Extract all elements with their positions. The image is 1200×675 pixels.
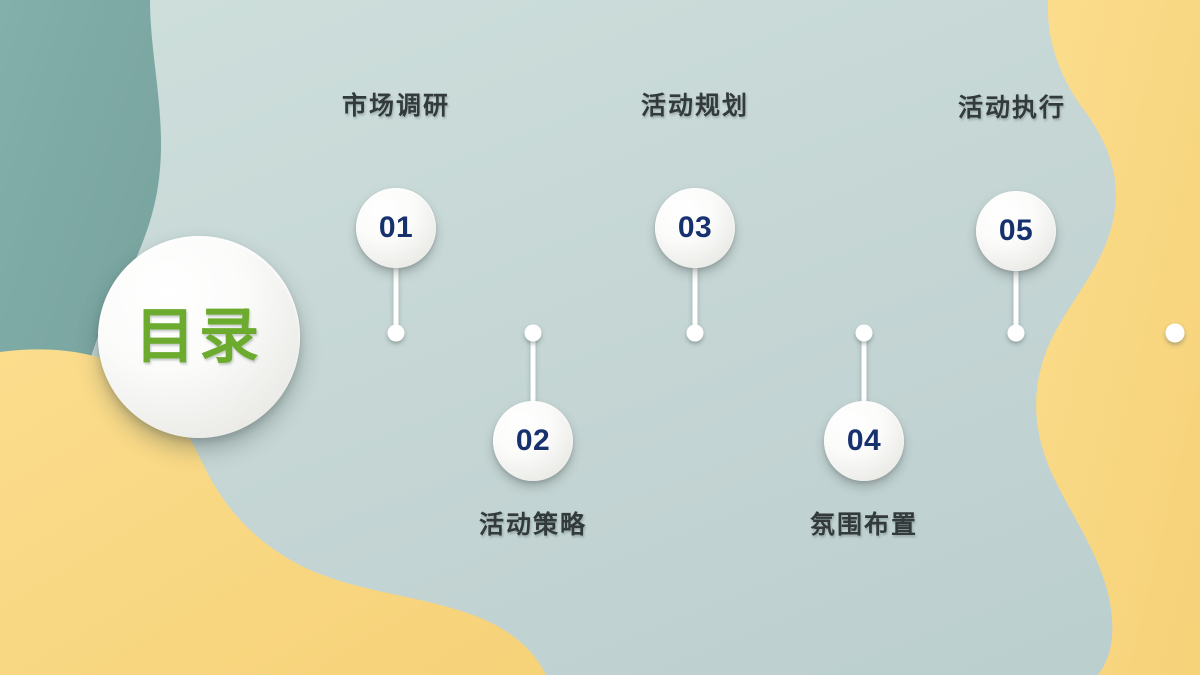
node-number-03: 03 [678,213,712,243]
node-number-02: 02 [516,426,550,456]
timeline-node-01[interactable]: 01 [356,188,436,268]
node-number-05: 05 [999,216,1033,246]
slide-canvas: 目录 01 市场调研 02 活动策略 03 活动规划 04 氛围布置 05 活动… [0,0,1200,675]
node-label-01: 市场调研 [342,86,450,122]
node-number-01: 01 [379,213,413,243]
node-label-04: 氛围布置 [810,505,918,541]
node-label-05: 活动执行 [958,88,1066,124]
timeline-node-05[interactable]: 05 [976,191,1056,271]
timeline-node-02[interactable]: 02 [493,401,573,481]
timeline-node-03[interactable]: 03 [655,188,735,268]
node-label-02: 活动策略 [479,505,587,541]
toc-main-badge[interactable]: 目录 [98,236,300,438]
toc-main-title: 目录 [135,307,263,367]
node-label-03: 活动规划 [641,86,749,122]
node-number-04: 04 [847,426,881,456]
timeline-node-04[interactable]: 04 [824,401,904,481]
